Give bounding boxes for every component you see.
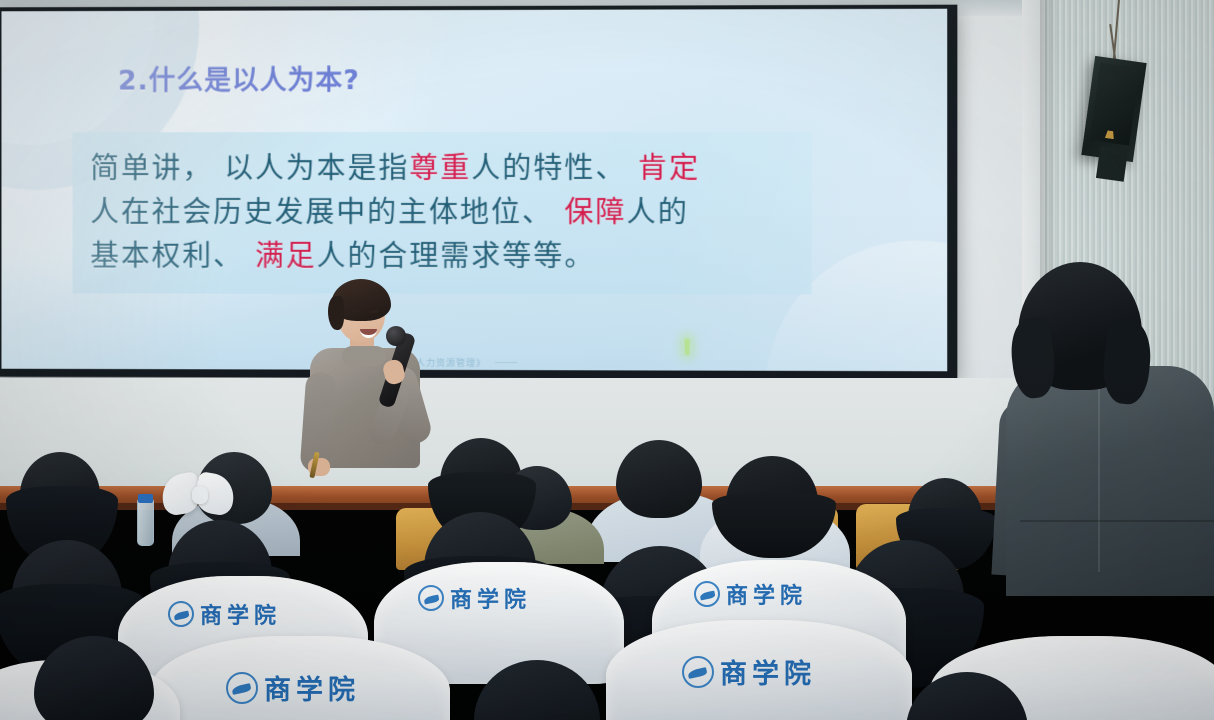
instructor-eye-right: [369, 310, 378, 314]
instructor-hair-side: [328, 296, 344, 330]
slide-body-line: 人在社会历史发展中的主体地位、 保障人的: [90, 190, 793, 234]
chair-cover-text: 商学院: [726, 578, 807, 610]
business-school-logo-icon: [682, 656, 714, 688]
chair-cover-logo: 商学院: [682, 652, 816, 691]
business-school-logo-icon: [694, 581, 720, 607]
attendee-jacket-seam: [1098, 382, 1100, 572]
slide-highlight-term: 尊重: [409, 151, 471, 185]
chair-cover-text: 商学院: [450, 582, 531, 614]
projection-screen: 2.什么是以人为本? 简单讲， 以人为本是指尊重人的特性、 肯定 人在社会历史发…: [1, 9, 947, 372]
chair-cover-logo: 商学院: [418, 582, 531, 614]
speaker-mount-bracket: [1096, 146, 1128, 182]
slide-text-run: 人的: [627, 195, 689, 229]
hair-bow-knot: [192, 486, 208, 504]
screen-bottom-fade: [1, 250, 947, 372]
business-school-logo-icon: [226, 672, 258, 704]
water-bottle: [137, 498, 154, 546]
attendee-jacket: [1006, 366, 1214, 596]
chair-cover-logo: 商学院: [168, 598, 281, 630]
business-school-logo-icon: [168, 601, 194, 627]
projection-screen-frame: 2.什么是以人为本? 简单讲， 以人为本是指尊重人的特性、 肯定 人在社会历史发…: [0, 5, 957, 380]
microphone-head-icon: [386, 326, 406, 346]
chair-cover-logo: 商学院: [694, 578, 807, 610]
chair-cover-text: 商学院: [720, 652, 816, 691]
slide-body-line: 简单讲， 以人为本是指尊重人的特性、 肯定: [90, 146, 793, 190]
slide-highlight-term: 肯定: [638, 151, 700, 185]
lecture-hall-photo: 2.什么是以人为本? 简单讲， 以人为本是指尊重人的特性、 肯定 人在社会历史发…: [0, 0, 1214, 720]
slide-text-run: 人在社会历史发展中的主体地位、: [90, 195, 564, 229]
slide-text-run: 人的特性、: [471, 151, 638, 185]
instructor-collar: [342, 346, 386, 366]
slide-highlight-term: 保障: [564, 195, 626, 229]
chair-cover-text: 商学院: [200, 598, 281, 630]
chair-cover-logo: 商学院: [226, 668, 360, 707]
slide-title: 2.什么是以人为本?: [118, 58, 360, 97]
water-bottle-cap: [138, 494, 153, 503]
attendee-jacket-hem: [1020, 520, 1214, 522]
speaker-grille: [1089, 63, 1139, 146]
slide-text-run: 简单讲， 以人为本是指: [90, 151, 409, 185]
chair-cover-text: 商学院: [264, 668, 360, 707]
business-school-logo-icon: [418, 585, 444, 611]
